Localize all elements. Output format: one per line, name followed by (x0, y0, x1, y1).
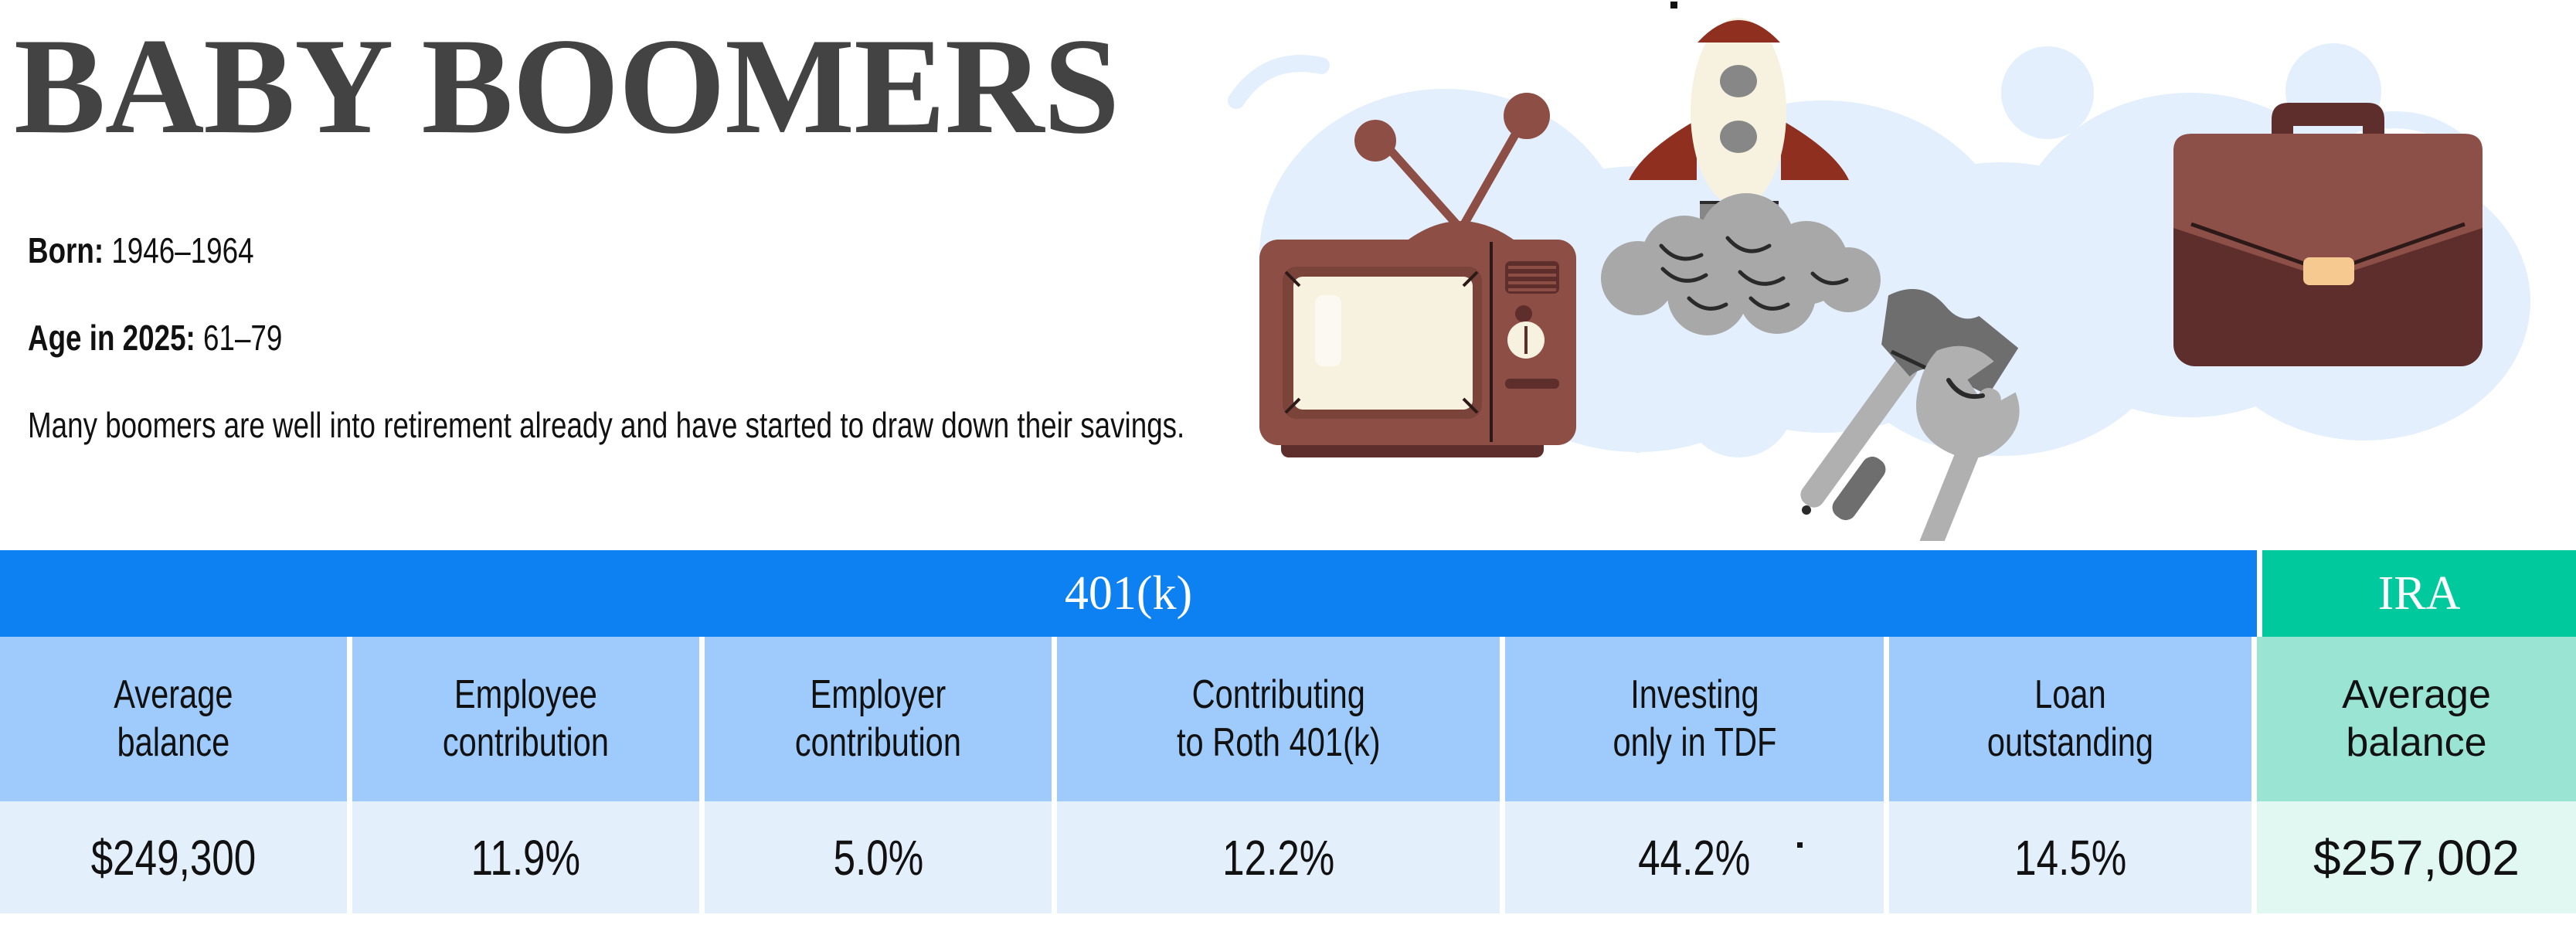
column-divider (699, 637, 705, 801)
cell-investing-tdf: 44.2% (1505, 801, 1884, 913)
briefcase-icon (2173, 103, 2483, 366)
column-header-employee-contribution: Employee contribution (352, 637, 699, 801)
column-divider (347, 637, 352, 801)
column-header-line2: outstanding (1987, 720, 2153, 765)
column-header-roth-401k: Contributing to Roth 401(k) (1057, 637, 1500, 801)
column-header-line2: balance (2346, 720, 2486, 765)
column-header-line2: contribution (795, 720, 961, 765)
cell-value: 5.0% (833, 833, 923, 882)
cell-employer-contribution: 5.0% (705, 801, 1052, 913)
column-header-line2: to Roth 401(k) (1177, 720, 1381, 765)
column-header-line1: Investing (1630, 672, 1759, 717)
column-divider (1500, 637, 1505, 801)
cell-roth-401k: 12.2% (1057, 801, 1500, 913)
cell-value: 11.9% (471, 833, 580, 882)
group-header-401k-label: 401(k) (1065, 570, 1192, 617)
column-divider (1052, 801, 1057, 913)
cell-value: 12.2% (1222, 833, 1334, 882)
column-divider (1500, 801, 1505, 913)
age-line: Age in 2025: 61–79 (28, 317, 282, 359)
description-text: Many boomers are well into retirement al… (28, 402, 1202, 450)
illustration (1205, 0, 2576, 541)
column-header-line1: Loan (2034, 672, 2106, 717)
column-header-line2: only in TDF (1613, 720, 1776, 765)
page-title: BABY BOOMERS (14, 14, 1119, 158)
stray-mark (1797, 842, 1803, 848)
column-header-line1: Employee (454, 672, 597, 717)
group-header-401k: 401(k) (0, 550, 2257, 637)
column-header-line2: balance (117, 720, 230, 765)
age-label: Age in 2025: (28, 318, 195, 358)
column-header-line1: Average (2342, 672, 2491, 717)
column-header-line1: Employer (811, 672, 946, 717)
group-divider (2257, 550, 2262, 637)
cell-value: $257,002 (2313, 833, 2520, 882)
group-header-ira-label: IRA (2378, 570, 2461, 617)
group-header-ira: IRA (2262, 550, 2576, 637)
column-divider (1884, 801, 1889, 913)
cell-ira-average-balance: $257,002 (2257, 801, 2576, 913)
born-line: Born: 1946–1964 (28, 230, 254, 271)
column-divider (1884, 637, 1889, 801)
age-value: 61–79 (203, 318, 282, 358)
table-row: $249,300 11.9% 5.0% 12.2% 44.2% 14.5% $2… (0, 801, 2576, 913)
born-value: 1946–1964 (111, 230, 253, 270)
column-divider (2251, 801, 2257, 913)
header-section: BABY BOOMERS Born: 1946–1964 Age in 2025… (0, 0, 2576, 550)
born-label: Born: (28, 230, 104, 270)
cell-value: $249,300 (91, 833, 257, 882)
column-divider (2251, 637, 2257, 801)
column-divider (1052, 637, 1057, 801)
table-group-header-row: 401(k) IRA (0, 550, 2576, 637)
cell-loan-outstanding: 14.5% (1889, 801, 2251, 913)
column-header-average-balance: Average balance (0, 637, 347, 801)
cell-value: 44.2% (1638, 833, 1750, 882)
column-header-line1: Average (114, 672, 233, 717)
column-divider (347, 801, 352, 913)
stats-table: 401(k) IRA Average balance Employee cont… (0, 550, 2576, 913)
column-header-line2: contribution (443, 720, 609, 765)
column-header-ira-average-balance: Average balance (2257, 637, 2576, 801)
cell-value: 14.5% (2014, 833, 2126, 882)
cell-average-balance: $249,300 (0, 801, 347, 913)
column-divider (699, 801, 705, 913)
column-header-line1: Contributing (1191, 672, 1364, 717)
column-header-employer-contribution: Employer contribution (705, 637, 1052, 801)
column-header-investing-tdf: Investing only in TDF (1505, 637, 1884, 801)
cell-employee-contribution: 11.9% (352, 801, 699, 913)
table-column-header-row: Average balance Employee contribution Em… (0, 637, 2576, 801)
column-header-loan-outstanding: Loan outstanding (1889, 637, 2251, 801)
